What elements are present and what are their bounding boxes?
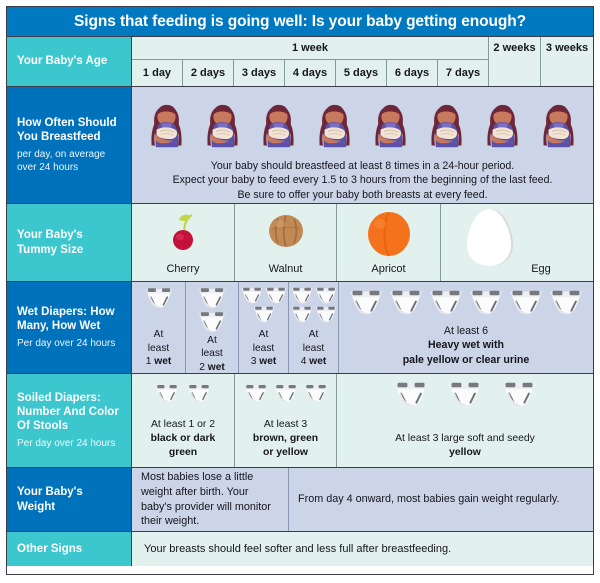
age-day-2: 2 days [183,60,234,86]
row-tummy-size: Your Baby's Tummy Size Cherry [7,204,593,282]
row-label-tummy-size: Your Baby's Tummy Size [7,204,132,281]
row-label-soiled-diapers: Soiled Diapers: Number And Color Of Stoo… [7,374,132,467]
age-day-7: 7 days [438,60,489,86]
age-day-4: 4 days [285,60,336,86]
row-other-signs: Other Signs Your breasts should feel sof… [7,532,593,566]
breastfeeding-mother-icon [145,104,188,153]
age-day-3: 3 days [234,60,285,86]
soil-caption-2: At least 3 brown, green or yellow [253,418,318,467]
diaper-icon [243,383,269,404]
age-week-2: 2 weeks [489,37,541,60]
breastfeed-line-1: Your baby should breastfeed at least 8 t… [140,159,585,173]
diaper-icon-group [132,383,234,404]
page-title: Signs that feeding is going well: Is you… [7,7,593,37]
row-label-wet-diapers: Wet Diapers: How Many, How Wet Per day o… [7,282,132,373]
wet-caption-1: At least 1 wet [146,328,172,373]
diaper-icon [501,380,537,409]
tummy-label-cherry: Cherry [166,263,199,281]
diaper-icon [314,286,338,305]
wet-cap-num: 2 [199,362,205,373]
egg-icon [463,207,519,269]
diaper-icon [348,288,384,317]
infographic-page: Signs that feeding is going well: Is you… [0,0,600,583]
diaper-icon [508,288,544,317]
breastfeed-instructions: Your baby should breastfeed at least 8 t… [132,153,593,202]
wet-cap-line2: least [253,343,275,354]
breastfeeding-mother-icon-strip [132,91,593,153]
tummy-cell-cherry: Cherry [132,204,235,281]
diaper-icon [154,383,180,404]
age-day-1: 1 day [132,60,183,86]
wet-cap-bold: wet [309,356,326,367]
diaper-icon [252,305,276,324]
breastfeeding-mother-icon [313,104,356,153]
age-day-6: 6 days [387,60,438,86]
wet-cap-line1: At [259,329,269,340]
wet-cap-bold: wet [259,356,276,367]
row-label-sub: Per day over 24 hours [17,438,121,451]
wet-col-4: At least 4 wet [289,282,339,373]
age-day-5: 5 days [336,60,387,86]
diaper-icon [252,305,276,324]
wet-col-wide: At least 6 Heavy wet with pale yellow or… [339,282,593,373]
diaper-icon [240,286,264,305]
tummy-label-walnut: Walnut [269,263,303,281]
row-breastfeed-frequency: How Often Should You Breastfeed per day,… [7,87,593,204]
diaper-icon [264,286,288,305]
wet-cap-bold: wet [154,356,171,367]
diaper-icon [468,288,504,317]
diaper-icon [273,383,299,404]
wet-caption-3: At least 3 wet [251,328,277,373]
wet-cap-line1: At [309,329,319,340]
diaper-icon [303,383,329,404]
tummy-cell-walnut: Walnut [235,204,337,281]
diaper-icon [393,380,429,409]
wide-line1: At least 6 [444,325,488,337]
breastfeeding-mother-icon [481,104,524,153]
wet-cap-num: 1 [146,356,152,367]
diaper-icon-group [186,286,238,334]
apricot-icon [363,207,415,259]
wet-diapers-content: At least 1 wet At least 2 wet [132,282,593,373]
diaper-icon-group [239,286,288,324]
breastfeed-line-2: Expect your baby to feed every 1.5 to 3 … [140,173,585,187]
wet-cap-line2: least [148,343,170,354]
weight-cell-later: From day 4 onward, most babies gain weig… [289,468,593,531]
diaper-icon-group-large [337,380,593,409]
wet-cap-num: 3 [251,356,257,367]
other-signs-content: Your breasts should feel softer and less… [132,532,593,566]
breastfeeding-mother-icon [257,104,300,153]
soil-line2: yellow [449,447,481,458]
wet-col-1: At least 1 wet [132,282,186,373]
diaper-icon [240,286,264,305]
walnut-icon [264,209,308,253]
diaper-icon [447,380,483,409]
wet-col-2: At least 2 wet [186,282,239,373]
row-label-text: Other Signs [17,542,121,556]
diaper-icon [197,310,227,334]
diaper-icon [447,380,483,409]
breastfeeding-mother-icon [425,104,468,153]
diaper-icon [388,288,424,317]
diaper-icon [501,380,537,409]
wet-cap-bold: wet [208,362,225,373]
age-week-3-spacer [541,60,593,86]
weight-cell-early: Most babies lose a little weight after b… [132,468,289,531]
diaper-icon [197,310,227,334]
age-week-2-spacer [489,60,541,86]
breastfeeding-mother-icon [201,104,244,153]
breastfeeding-mother-icon [369,104,412,153]
wet-col-3: At least 3 wet [239,282,289,373]
diaper-icon [388,288,424,317]
wet-caption-4: At least 4 wet [301,328,327,373]
breastfeeding-mother-icon [369,104,412,153]
diaper-icon [548,288,584,317]
wet-caption-2: At least 2 wet [199,334,225,379]
diaper-icon [290,305,314,324]
age-week-span: 1 week [132,37,489,60]
row-label-breastfeed: How Often Should You Breastfeed per day,… [7,87,132,203]
soil-col-2: At least 3 brown, green or yellow [235,374,337,467]
row-label-baby-weight: Your Baby's Weight [7,468,132,531]
row-label-text: Your Baby's Tummy Size [17,228,121,256]
breastfeeding-mother-icon [537,104,580,153]
row-baby-weight: Your Baby's Weight Most babies lose a li… [7,468,593,532]
breastfeeding-mother-icon [313,104,356,153]
wet-cap-line1: At [154,329,164,340]
diaper-icon-group [289,286,338,324]
row-label-text: How Often Should You Breastfeed [17,116,121,144]
breastfeeding-mother-icon [145,104,188,153]
cherry-icon [164,210,202,254]
row-soiled-diapers: Soiled Diapers: Number And Color Of Stoo… [7,374,593,468]
breastfeeding-mother-icon [481,104,524,153]
wide-line3: pale yellow or clear urine [403,354,530,366]
age-week-3: 3 weeks [541,37,593,60]
weight-content: Most babies lose a little weight after b… [132,468,593,531]
diaper-icon [186,383,212,404]
age-header-grid: 1 week 2 weeks 3 weeks 1 day 2 days 3 da… [132,37,593,86]
diaper-icon [186,383,212,404]
wet-cap-line2: least [303,343,325,354]
diaper-icon [197,286,227,310]
breastfeeding-mother-icon [425,104,468,153]
tummy-cell-apricot: Apricot [337,204,441,281]
row-label-other-signs: Other Signs [7,532,132,566]
soil-col-3: At least 3 large soft and seedy yellow [337,374,593,467]
wet-caption-wide: At least 6 Heavy wet with pale yellow or… [403,324,530,373]
soil-caption-3: At least 3 large soft and seedy yellow [395,432,535,467]
diaper-icon [548,288,584,317]
tummy-content: Cherry Walnut [132,204,593,281]
diaper-icon-group [235,383,336,404]
wet-cap-num: 4 [301,356,307,367]
diaper-icon-group [132,286,185,310]
row-label-sub: Per day over 24 hours [17,338,121,351]
soil-line2: brown, green [253,433,318,444]
soil-line1: At least 1 or 2 [151,419,215,430]
diaper-icon-group-large [339,288,593,317]
diaper-icon [508,288,544,317]
row-label-text: Your Baby's Weight [17,485,121,513]
breastfeeding-mother-icon [257,104,300,153]
diaper-icon [468,288,504,317]
wet-cap-line2: least [201,348,223,359]
diaper-icon [197,286,227,310]
breastfeed-line-3: Be sure to offer your baby both breasts … [140,188,585,202]
soil-line3: or yellow [263,447,308,458]
soil-line2: black or dark [151,433,216,444]
diaper-icon [144,286,174,310]
diaper-icon [393,380,429,409]
tummy-cell-egg: Egg [441,204,593,281]
diaper-icon [314,286,338,305]
soil-line1: At least 3 large soft and seedy [395,433,535,444]
diaper-icon [144,286,174,310]
soil-line1: At least 3 [264,419,307,430]
diaper-icon [303,383,329,404]
breastfeeding-mother-icon [201,104,244,153]
diaper-icon [428,288,464,317]
diaper-icon [348,288,384,317]
soil-line3: green [169,447,197,458]
diaper-icon [273,383,299,404]
row-label-text: Soiled Diapers: Number And Color Of Stoo… [17,391,121,433]
breastfeed-content: Your baby should breastfeed at least 8 t… [132,87,593,203]
breastfeeding-mother-icon [537,104,580,153]
tummy-label-apricot: Apricot [371,263,405,281]
row-label-baby-age: Your Baby's Age [7,37,132,86]
wide-line2: Heavy wet with [428,339,504,351]
wet-cap-line1: At [207,335,217,346]
soiled-diapers-content: At least 1 or 2 black or dark green At l… [132,374,593,467]
diaper-icon [314,305,338,324]
soil-caption-1: At least 1 or 2 black or dark green [151,418,216,467]
row-label-text: Your Baby's Age [17,54,121,68]
diaper-icon [290,286,314,305]
row-baby-age: Your Baby's Age 1 week 2 weeks 3 weeks 1… [7,37,593,87]
soil-col-1: At least 1 or 2 black or dark green [132,374,235,467]
row-label-sub: per day, on average over 24 hours [17,149,121,174]
row-wet-diapers: Wet Diapers: How Many, How Wet Per day o… [7,282,593,374]
diaper-icon [290,286,314,305]
diaper-icon [428,288,464,317]
diaper-icon [243,383,269,404]
diaper-icon [314,305,338,324]
feeding-signs-table: Signs that feeding is going well: Is you… [6,6,594,575]
row-label-text: Wet Diapers: How Many, How Wet [17,305,121,333]
diaper-icon [264,286,288,305]
diaper-icon [290,305,314,324]
diaper-icon [154,383,180,404]
